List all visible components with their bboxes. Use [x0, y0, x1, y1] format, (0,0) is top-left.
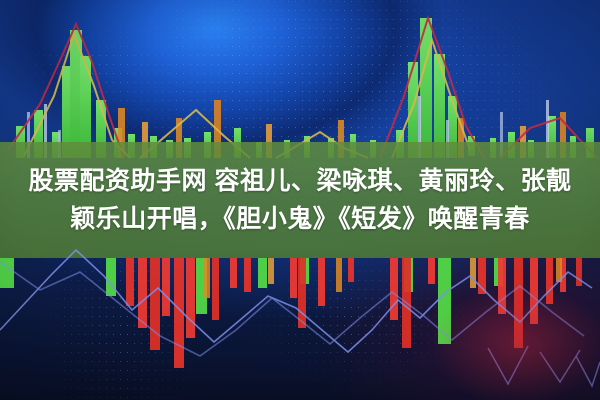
stock-banner-image: 股票配资助手网 容祖儿、梁咏琪、黄丽玲、张靓 颖乐山开唱，《胆小鬼》《短发》唤醒…: [0, 0, 600, 400]
vignette-overlay: [0, 0, 600, 400]
